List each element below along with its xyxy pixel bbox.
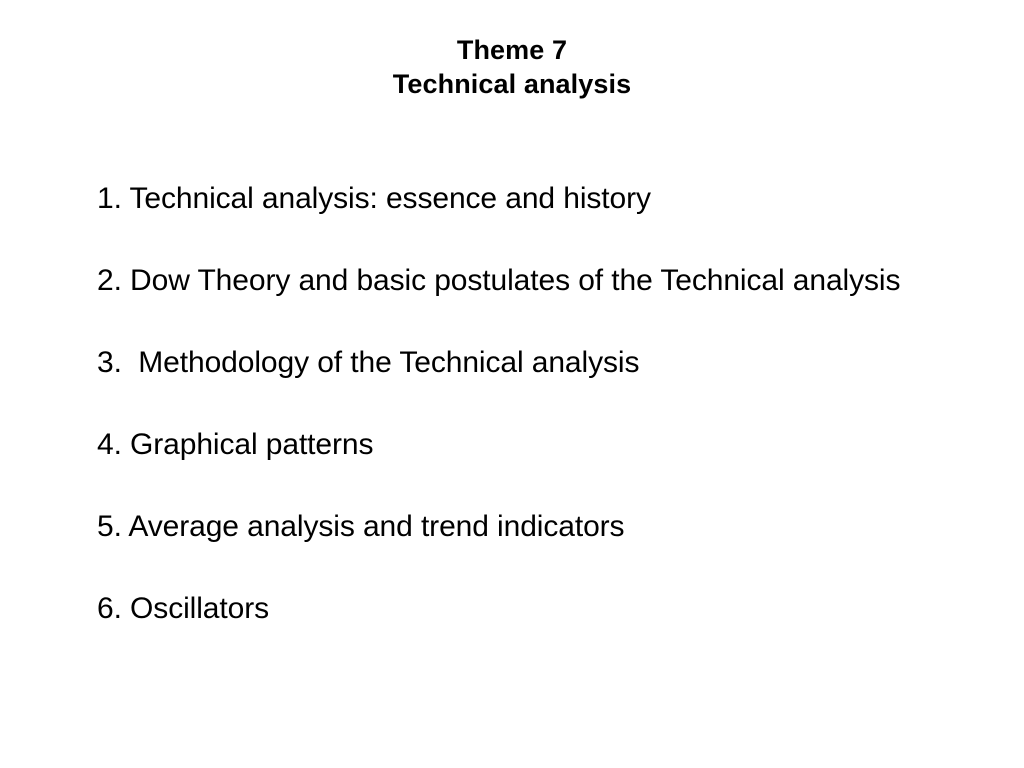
outline-list: 1. Technical analysis: essence and histo… [97,158,957,650]
title-line-subject: Technical analysis [0,67,1024,101]
title-line-theme-number: Theme 7 [0,33,1024,67]
list-item: 1. Technical analysis: essence and histo… [97,158,957,240]
list-item: 2. Dow Theory and basic postulates of th… [97,240,941,322]
list-item: 6. Oscillators [97,568,957,650]
list-item: 3. Methodology of the Technical analysis [97,322,957,404]
slide-title: Theme 7 Technical analysis [0,33,1024,101]
slide-canvas: Theme 7 Technical analysis 1. Technical … [0,0,1024,768]
list-item: 4. Graphical patterns [97,404,957,486]
list-item: 5. Average analysis and trend indicators [97,486,957,568]
